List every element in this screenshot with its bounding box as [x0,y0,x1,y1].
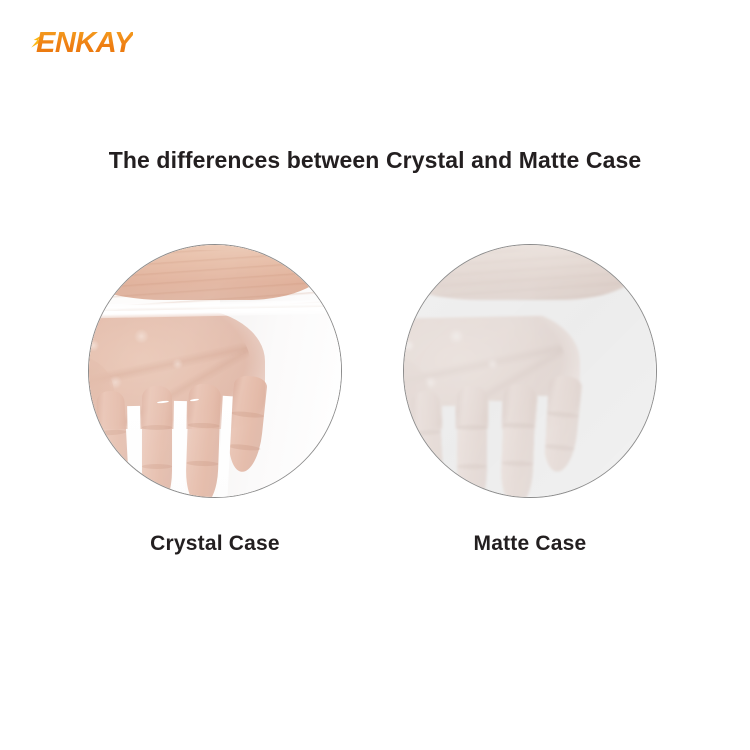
matte-case-photo [403,244,657,498]
brand-name: ENKAY [30,26,133,60]
hand-through-case-scene [404,245,656,497]
wrist-crease-lines [404,250,656,305]
comparison-row: Crystal Case [0,244,750,574]
brand-logo: ENKAY [30,26,180,60]
finger-gap-2 [172,401,186,498]
finger-2 [457,386,487,498]
finger-gap-1 [127,406,141,498]
finger-3 [500,383,536,498]
hand-through-case-scene [89,245,341,497]
comparison-item-matte: Matte Case [403,244,657,556]
comparison-item-crystal: Crystal Case [88,244,342,556]
case-label-matte: Matte Case [403,532,657,556]
crystal-case-photo [88,244,342,498]
finger-gap-1 [442,406,456,498]
finger-gap-2 [487,401,501,498]
wrist-crease-lines [89,250,341,305]
page-title: The differences between Crystal and Matt… [0,146,750,174]
case-label-crystal: Crystal Case [88,532,342,556]
